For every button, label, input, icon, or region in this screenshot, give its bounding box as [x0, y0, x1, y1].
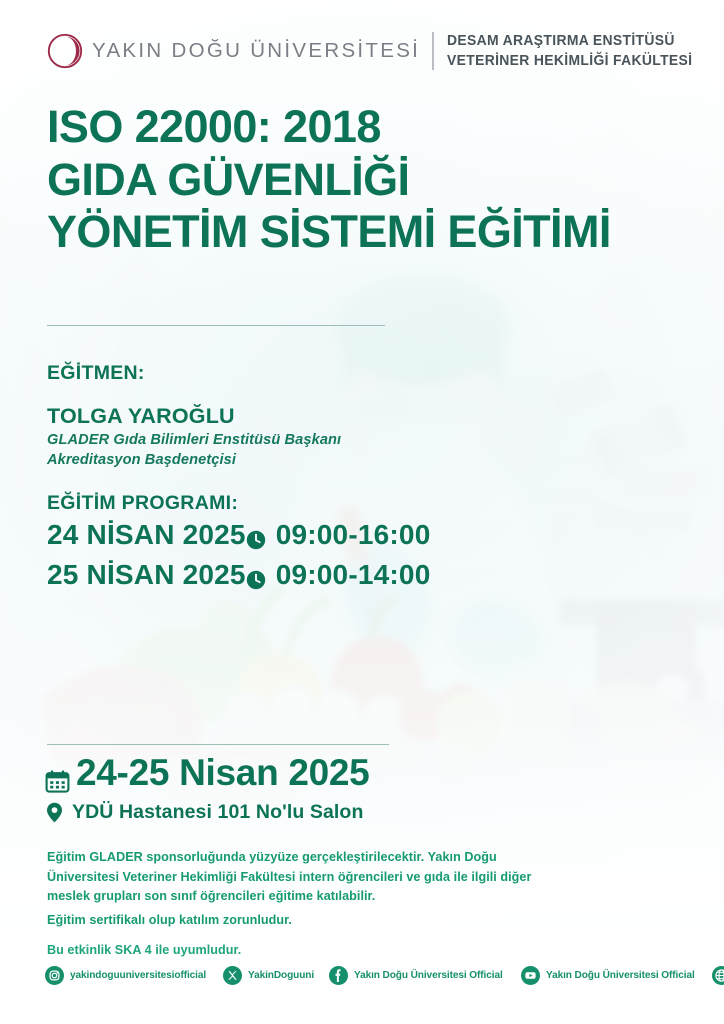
- university-name: YAKIN DOĞU ÜNİVERSİTESİ: [92, 41, 420, 62]
- institute-name: DESAM ARAŞTIRMA ENSTİTÜSÜ VETERİNER HEKİ…: [447, 31, 703, 71]
- venue-text: YDÜ Hastanesi 101 No'lu Salon: [72, 801, 363, 824]
- footer-label: yakindoguuniversitesiofficial: [70, 970, 206, 981]
- footer-item-facebook[interactable]: Yakın Doğu Üniversitesi Official: [329, 966, 507, 985]
- institute-line-2: VETERİNER HEKİMLİĞİ FAKÜLTESİ: [447, 51, 692, 71]
- note-paragraph-2: Eğitim sertifikalı olup katılım zorunlud…: [47, 911, 292, 931]
- program-time: 09:00-16:00: [276, 519, 431, 551]
- footer-item-youtube[interactable]: Yakın Doğu Üniversitesi Official: [521, 966, 699, 985]
- note-paragraph-1: Eğitim GLADER sponsorluğunda yüzyüze ger…: [47, 848, 567, 907]
- poster-title: ISO 22000: 2018 GIDA GÜVENLİĞİ YÖNETİM S…: [47, 101, 707, 259]
- trainer-subtitle-line-2: Akreditasyon Başdenetçisi: [47, 450, 236, 471]
- globe-icon: [712, 966, 724, 985]
- neu-crescent-logo-icon: [47, 33, 83, 69]
- program-date: 25 NİSAN 2025: [47, 559, 246, 591]
- header-divider: [432, 32, 434, 70]
- title-line-1: ISO 22000: 2018: [47, 101, 707, 154]
- poster-content: YAKIN DOĞU ÜNİVERSİTESİ DESAM ARAŞTIRMA …: [0, 0, 724, 1024]
- instagram-icon: [45, 966, 64, 985]
- footer-label: Yakın Doğu Üniversitesi Official: [546, 970, 695, 981]
- program-row: 24 NİSAN 2025 09:00-16:00: [47, 519, 430, 551]
- divider-rule-top: [47, 325, 385, 326]
- social-footer: yakindoguuniversitesiofficial YakinDoguu…: [45, 966, 724, 985]
- poster: YAKIN DOĞU ÜNİVERSİTESİ DESAM ARAŞTIRMA …: [0, 0, 724, 1024]
- divider-rule-bottom: [47, 744, 389, 745]
- footer-item-instagram[interactable]: yakindoguuniversitesiofficial: [45, 966, 210, 985]
- program-label: EĞİTİM PROGRAMI:: [47, 492, 238, 515]
- facebook-icon: [329, 966, 348, 985]
- youtube-icon: [521, 966, 540, 985]
- location-pin-icon: [46, 802, 63, 823]
- event-date-text: 24-25 Nisan 2025: [76, 752, 369, 794]
- institute-line-1: DESAM ARAŞTIRMA ENSTİTÜSÜ: [447, 31, 692, 51]
- trainer-subtitle-line-1: GLADER Gıda Bilimleri Enstitüsü Başkanı: [47, 430, 341, 451]
- footer-label: YakinDoguuni: [248, 970, 314, 981]
- program-date: 24 NİSAN 2025: [47, 519, 246, 551]
- clock-icon: [246, 565, 266, 585]
- footer-item-x-twitter[interactable]: YakinDoguuni: [223, 966, 316, 985]
- program-time: 09:00-14:00: [276, 559, 431, 591]
- footer-item-website[interactable]: www.neu.edu.tr: [712, 966, 724, 985]
- event-date: 24-25 Nisan 2025: [45, 752, 369, 794]
- x-twitter-icon: [223, 966, 242, 985]
- program-row: 25 NİSAN 2025 09:00-14:00: [47, 559, 430, 591]
- clock-icon: [246, 525, 266, 545]
- event-venue: YDÜ Hastanesi 101 No'lu Salon: [46, 801, 363, 824]
- trainer-label: EĞİTMEN:: [47, 362, 145, 385]
- trainer-name: TOLGA YAROĞLU: [47, 404, 235, 429]
- title-line-2: GIDA GÜVENLİĞİ: [47, 154, 707, 207]
- calendar-icon: [45, 761, 70, 786]
- poster-header: YAKIN DOĞU ÜNİVERSİTESİ DESAM ARAŞTIRMA …: [47, 31, 703, 71]
- title-line-3: YÖNETİM SİSTEMİ EĞİTİMİ: [47, 206, 707, 259]
- footer-label: Yakın Doğu Üniversitesi Official: [354, 970, 503, 981]
- note-paragraph-3: Bu etkinlik SKA 4 ile uyumludur.: [47, 941, 241, 961]
